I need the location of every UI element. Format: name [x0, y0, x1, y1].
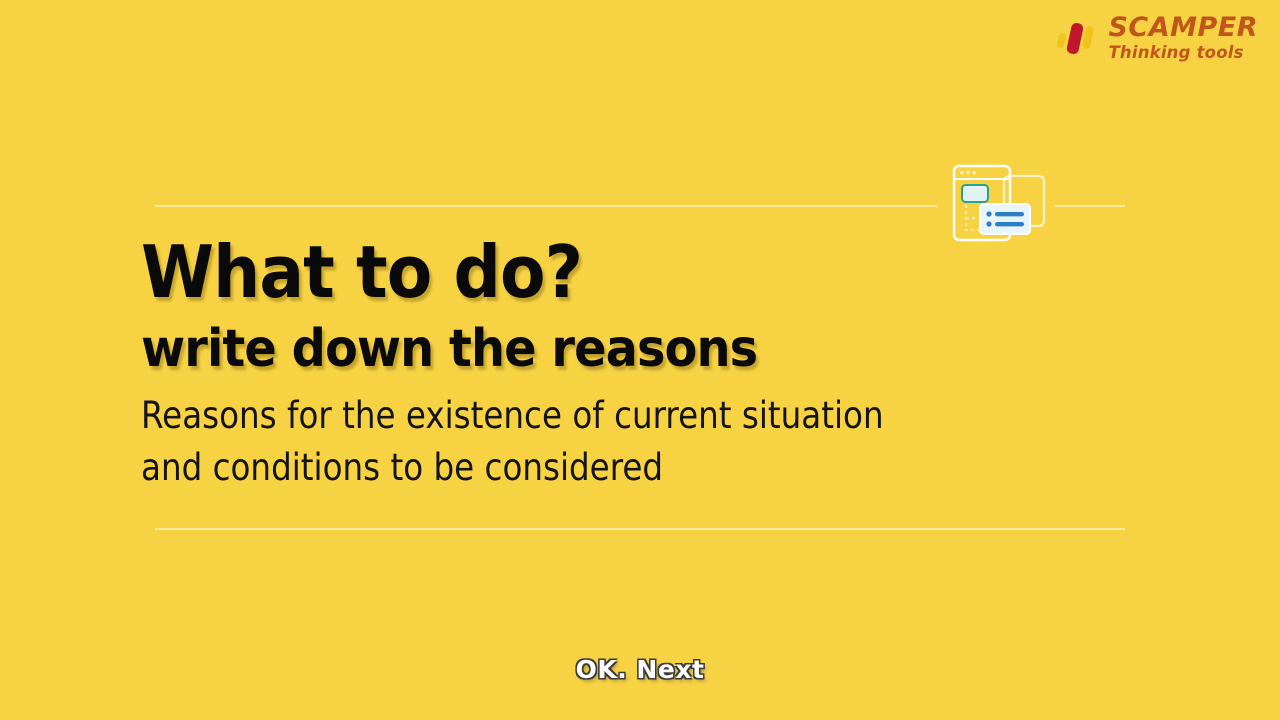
logo-bar-center — [1066, 22, 1084, 55]
divider-top-left — [155, 205, 938, 207]
brand-logo: SCAMPER Thinking tools — [1057, 14, 1258, 62]
brand-tagline: Thinking tools — [1108, 45, 1258, 62]
slide-canvas: SCAMPER Thinking tools — [0, 0, 1280, 720]
content-block: What to do? write down the reasons Reaso… — [141, 232, 1141, 494]
divider-bottom — [155, 528, 1125, 530]
subcopy-line-2: and conditions to be considered — [141, 442, 1021, 494]
headline-primary: What to do? — [141, 232, 1061, 312]
subcopy-block: Reasons for the existence of current sit… — [141, 390, 1021, 494]
brand-wordmark: SCAMPER Thinking tools — [1108, 14, 1258, 62]
headline-secondary: write down the reasons — [141, 318, 1061, 380]
scamper-bars-logo-icon — [1057, 17, 1099, 59]
logo-bar-left — [1057, 32, 1067, 48]
subcopy-line-1: Reasons for the existence of current sit… — [141, 390, 1021, 442]
divider-top-right — [1055, 205, 1125, 207]
brand-name: SCAMPER — [1108, 14, 1258, 41]
video-caption: OK. Next — [0, 655, 1280, 684]
logo-bar-right — [1082, 25, 1095, 49]
